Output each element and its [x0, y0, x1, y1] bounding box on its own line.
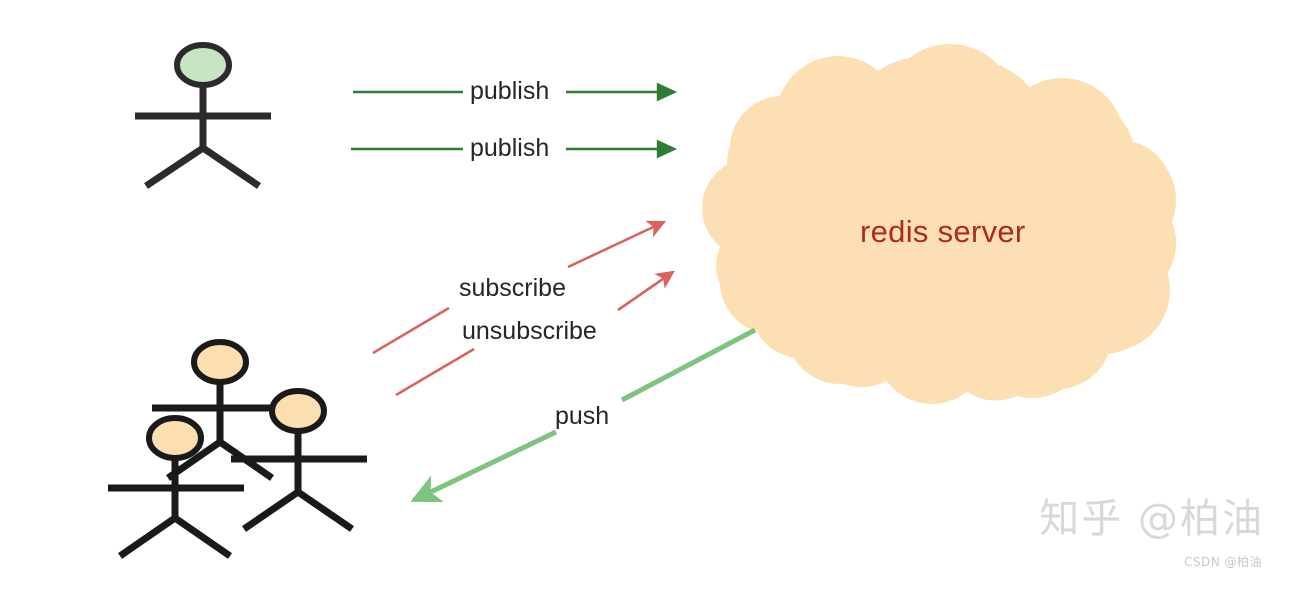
publisher-figure[interactable] — [135, 45, 271, 186]
subscriber-1-head — [194, 342, 246, 382]
unsubscribe-label: unsubscribe — [462, 319, 597, 344]
subscriber-figures[interactable] — [108, 342, 367, 556]
subscriber-2-leg-right — [298, 492, 352, 529]
unsubscribe-arrow-tail — [396, 349, 474, 395]
subscriber-3-leg-right — [175, 518, 230, 556]
zhihu-watermark: 知乎 @柏油 — [1039, 486, 1264, 544]
subscriber-2-head — [272, 391, 324, 431]
subscribe-arrow-head-line — [568, 222, 664, 267]
subscriber-3-head — [149, 418, 201, 458]
publisher-leg-left — [146, 148, 203, 186]
redis-server-label: redis server — [860, 216, 1026, 247]
subscriber-2-leg-left — [244, 492, 298, 529]
subscriber-figure-2[interactable] — [231, 391, 367, 529]
subscribe-label: subscribe — [459, 276, 566, 301]
push-arrow-head-line — [414, 432, 556, 500]
subscribe-arrow-tail — [373, 308, 449, 353]
csdn-watermark: CSDN @柏油 — [1184, 553, 1262, 570]
publisher-head — [177, 45, 229, 85]
push-arrow-tail — [622, 330, 755, 400]
subscriber-3-leg-left — [120, 518, 175, 556]
diagram-canvas: redis server publish publish subscribe u… — [0, 0, 1300, 592]
publisher-leg-right — [203, 148, 259, 186]
publish-label-1: publish — [470, 79, 549, 104]
unsubscribe-arrow-head-line — [618, 272, 673, 310]
publish-label-2: publish — [470, 136, 549, 161]
push-label: push — [555, 404, 609, 429]
subscriber-figure-3[interactable] — [108, 418, 244, 556]
